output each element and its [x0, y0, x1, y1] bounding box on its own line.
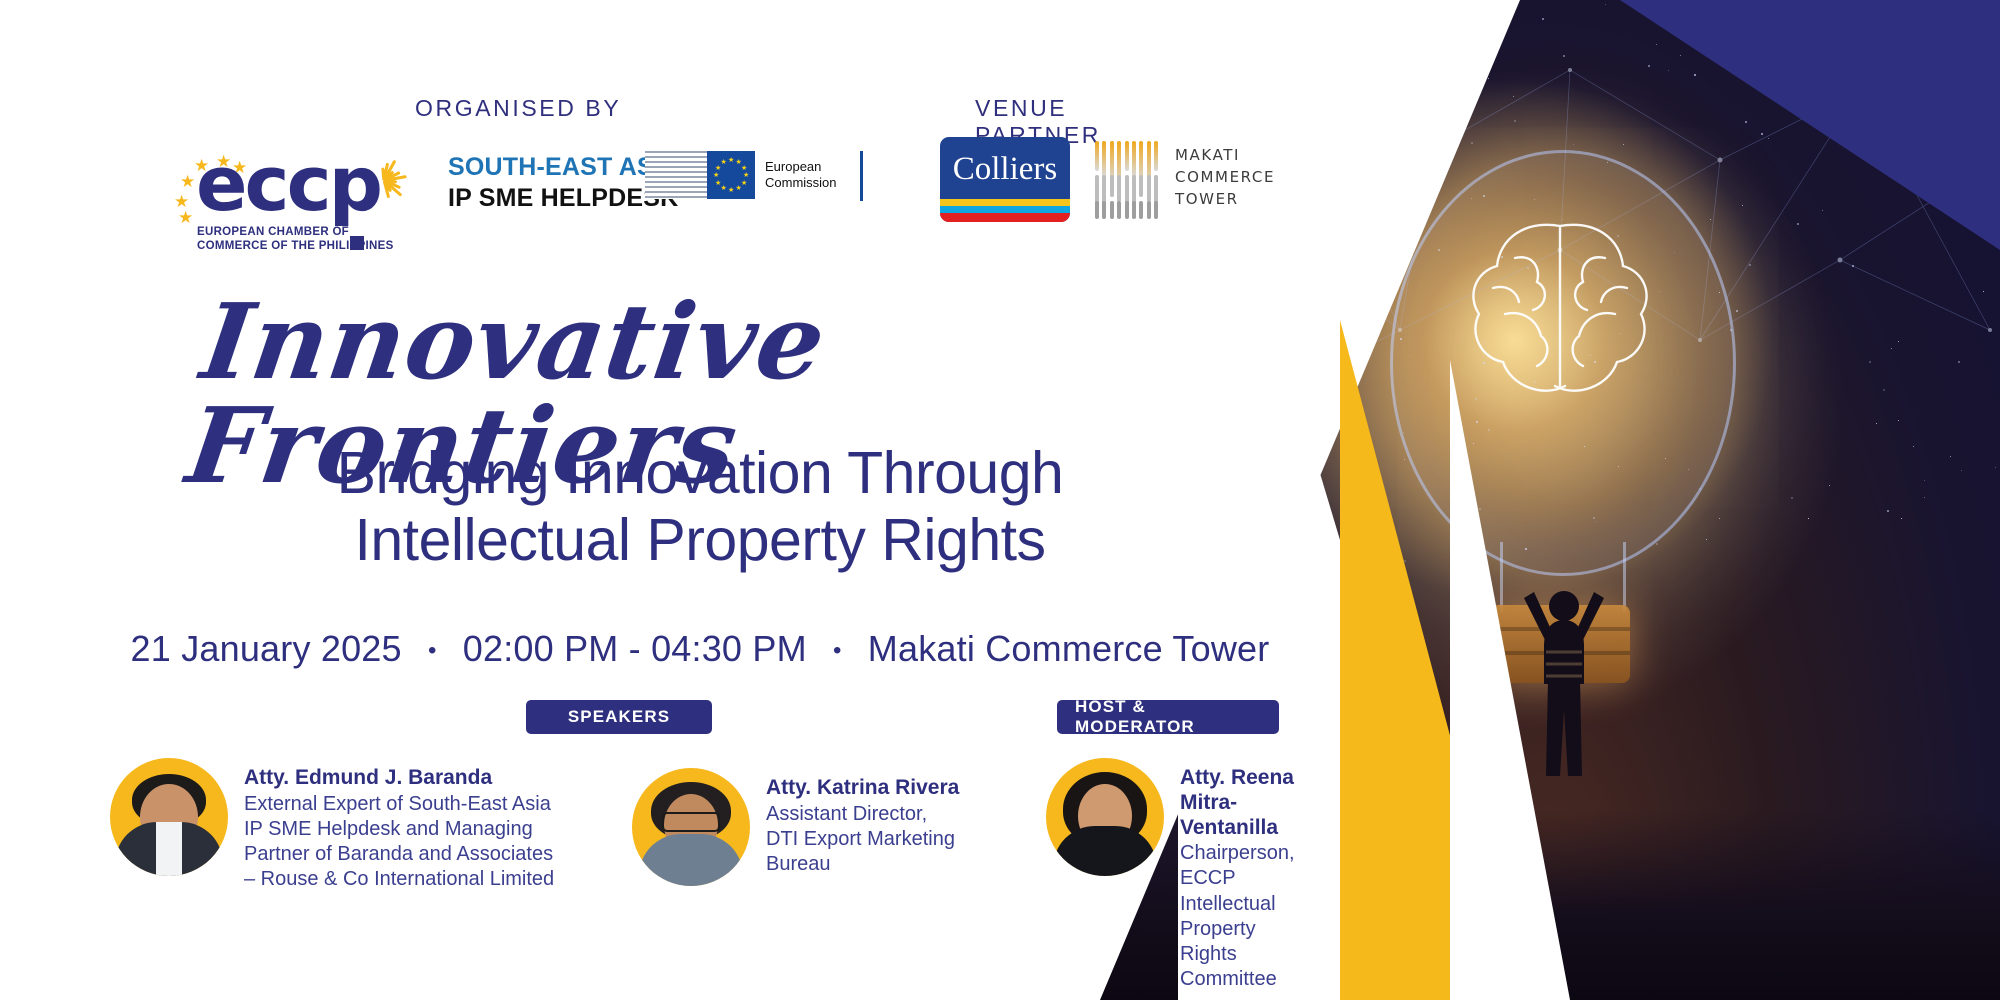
speaker-text: Atty. Reena Mitra-Ventanilla Chairperson…: [1180, 758, 1300, 992]
tower-bars-icon: [1095, 141, 1163, 219]
eccp-square-mark: [350, 236, 364, 250]
event-meta-line: 21 January 2025 • 02:00 PM - 04:30 PM • …: [100, 628, 1300, 670]
eccp-wordmark: eccp: [196, 153, 380, 215]
speaker-text: Atty. Edmund J. Baranda External Expert …: [244, 758, 554, 893]
white-diagonal-stripe-2: [1450, 360, 1570, 1000]
speaker-card: Atty. Edmund J. Baranda External Expert …: [110, 758, 554, 893]
navy-corner-wedge: [1620, 0, 2000, 250]
content-area: ORGANISED BY VENUE PARTNER ★★★★★★ eccp E…: [0, 0, 1180, 1000]
european-commission-logo: ★★★★★★★★★★★★ European Commission: [645, 151, 835, 207]
event-subtitle-line1: Bridging Innovation Through: [195, 440, 1205, 507]
speaker-name: Atty. Edmund J. Baranda: [244, 766, 554, 791]
colliers-bar-cyan: [940, 206, 1070, 213]
eccp-subtitle: EUROPEAN CHAMBER OF COMMERCE OF THE PHIL…: [197, 225, 422, 254]
avatar: [632, 768, 750, 886]
mct-label: MAKATI COMMERCE TOWER: [1175, 145, 1285, 210]
avatar: [1046, 758, 1164, 876]
ec-label-line1: European: [765, 159, 837, 175]
speaker-role: Assistant Director, DTI Export Marketing…: [766, 802, 959, 878]
colliers-bar-red: [940, 213, 1070, 222]
meta-separator-1: •: [428, 637, 437, 665]
people-row: Atty. Edmund J. Baranda External Expert …: [0, 758, 1300, 948]
colliers-bar-yellow: [940, 199, 1070, 206]
logo-row: ORGANISED BY VENUE PARTNER ★★★★★★ eccp E…: [0, 95, 1180, 255]
speaker-name: Atty. Katrina Rivera: [766, 776, 959, 801]
event-banner: ORGANISED BY VENUE PARTNER ★★★★★★ eccp E…: [0, 0, 2000, 1000]
organised-by-label: ORGANISED BY: [415, 95, 621, 122]
meta-separator-2: •: [833, 637, 842, 665]
ec-divider: [860, 151, 863, 201]
eccp-logo: ★★★★★★ eccp EUROPEAN CHAMBER OF COMMERCE…: [172, 141, 422, 251]
event-venue: Makati Commerce Tower: [868, 628, 1270, 669]
event-date: 21 January 2025: [131, 628, 402, 669]
host-moderator-badge: HOST & MODERATOR: [1057, 700, 1279, 734]
makati-commerce-tower-logo: MAKATI COMMERCE TOWER: [1095, 139, 1285, 223]
host-moderator-card: Atty. Reena Mitra-Ventanilla Chairperson…: [1046, 758, 1300, 992]
speaker-name: Atty. Reena Mitra-Ventanilla: [1180, 766, 1300, 840]
eu-flag-icon: ★★★★★★★★★★★★: [707, 151, 755, 199]
sunburst-rays-icon: [378, 145, 436, 215]
avatar: [110, 758, 228, 876]
event-time: 02:00 PM - 04:30 PM: [463, 628, 807, 669]
speaker-role: Chairperson, ECCP Intellectual Property …: [1180, 841, 1300, 992]
colliers-wordmark: Colliers: [940, 151, 1070, 188]
event-subtitle-line2: Intellectual Property Rights: [195, 507, 1205, 574]
speakers-badge: SPEAKERS: [526, 700, 712, 734]
speaker-card: Atty. Katrina Rivera Assistant Director,…: [632, 768, 959, 886]
speaker-role: External Expert of South-East Asia IP SM…: [244, 792, 554, 893]
event-subtitle: Bridging Innovation Through Intellectual…: [195, 440, 1205, 575]
ec-label-line2: Commission: [765, 175, 837, 191]
ec-label: European Commission: [765, 159, 837, 192]
speaker-text: Atty. Katrina Rivera Assistant Director,…: [766, 768, 959, 877]
ec-lines-mark: [645, 151, 707, 199]
colliers-logo: Colliers: [940, 137, 1070, 222]
